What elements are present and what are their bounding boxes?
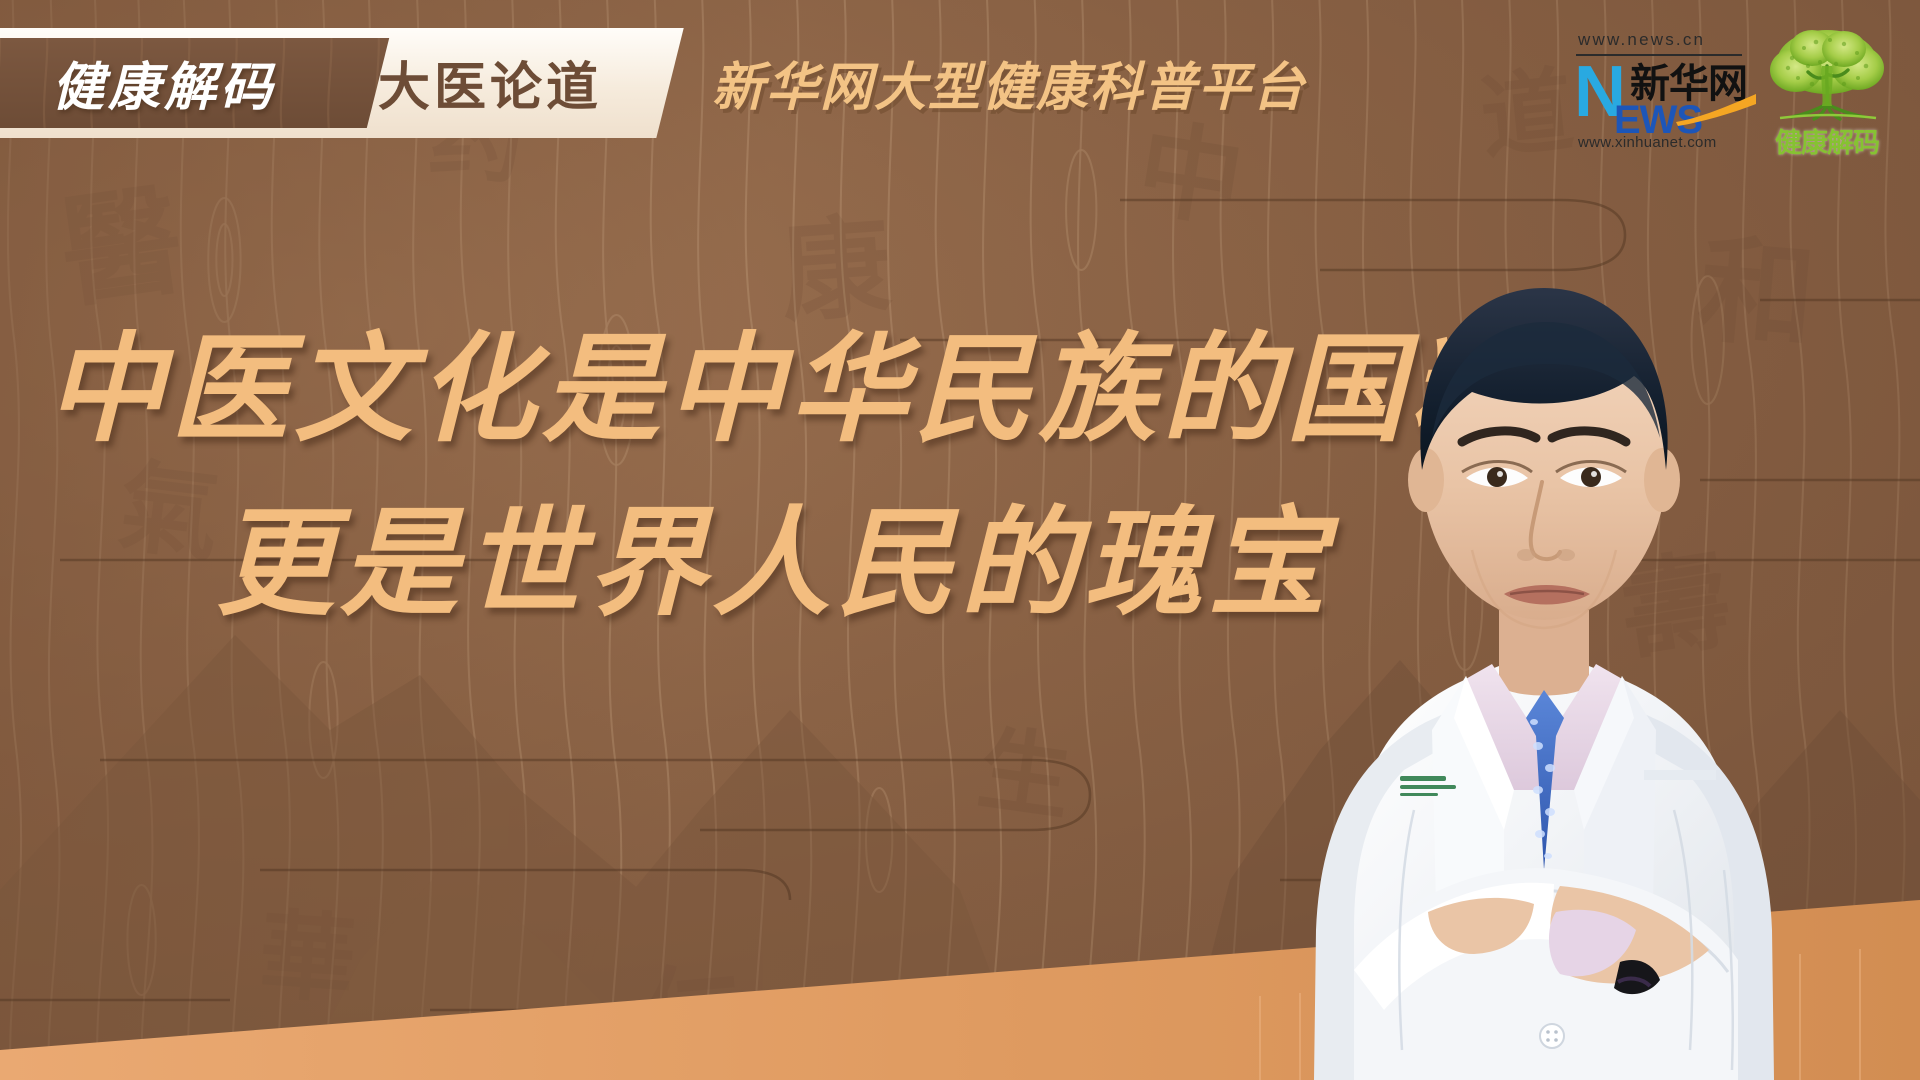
health-tree-logo[interactable]: 健康解码 <box>1752 18 1902 158</box>
brand-title-secondary: 大医论道 <box>378 62 602 114</box>
xinhua-logo[interactable]: www.news.cn N 新华网 EWS www.xinhuanet.com <box>1562 30 1752 150</box>
poster-canvas: 醫 药 康 中 道 和 氣 壽 華 仁 生 安 <box>0 0 1920 1080</box>
doctor-portrait <box>1204 170 1884 1080</box>
xinhua-url-top: www.news.cn <box>1578 30 1705 50</box>
brand-title-primary: 健康解码 <box>52 62 276 114</box>
xinhua-swoosh-icon <box>1674 92 1758 128</box>
header-banner: 健康解码 大医论道 新华网大型健康科普平台 <box>0 28 1420 138</box>
header-tagline: 新华网大型健康科普平台 <box>712 62 1306 114</box>
xinhua-url-bottom: www.xinhuanet.com <box>1578 134 1717 151</box>
tree-logo-caption: 健康解码 <box>1752 121 1902 160</box>
